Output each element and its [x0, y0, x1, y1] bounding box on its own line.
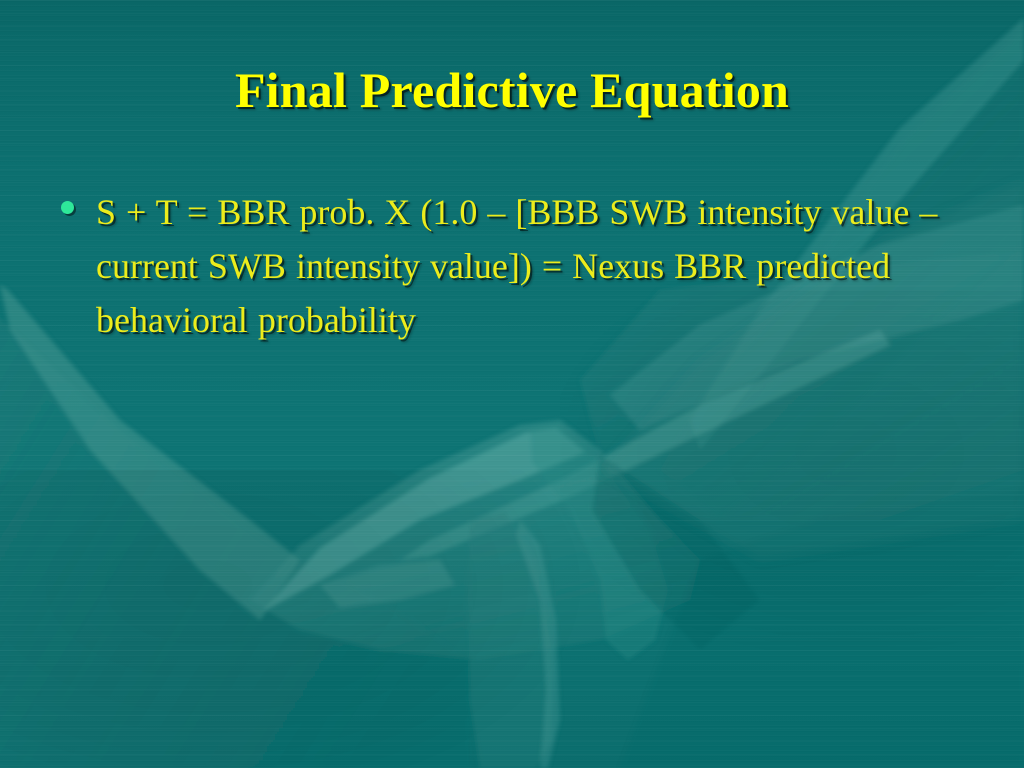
slide-title: Final Predictive Equation: [0, 64, 1024, 117]
bullet-text: S + T = BBR prob. X (1.0 – [BBB SWB inte…: [96, 185, 968, 347]
bullet-item: S + T = BBR prob. X (1.0 – [BBB SWB inte…: [56, 185, 968, 347]
slide-body: S + T = BBR prob. X (1.0 – [BBB SWB inte…: [56, 185, 968, 347]
bullet-marker: [56, 185, 96, 214]
bullet-dot-icon: [61, 201, 74, 214]
slide: Final Predictive Equation S + T = BBR pr…: [0, 0, 1024, 768]
